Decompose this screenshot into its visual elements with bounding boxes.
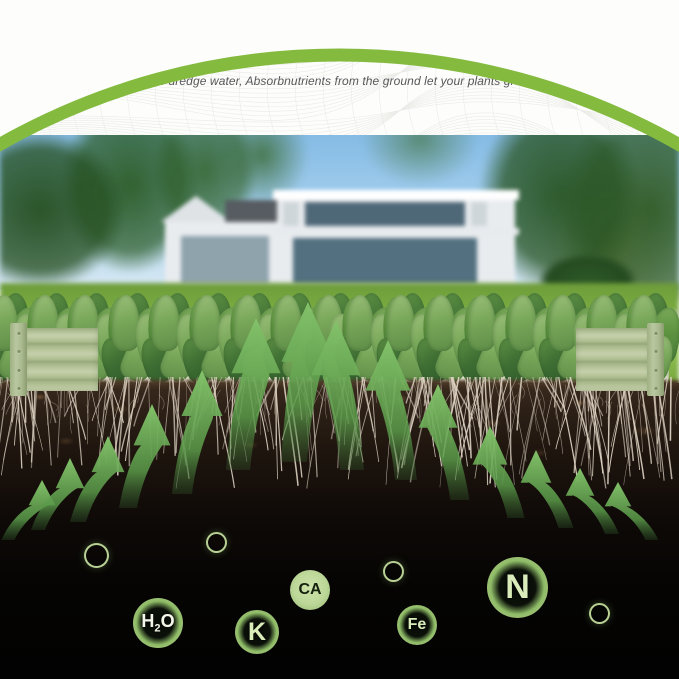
bed-rivet xyxy=(654,387,657,390)
bed-corner-post xyxy=(10,323,27,396)
bed-rivet xyxy=(17,332,20,335)
bed-rivet xyxy=(654,350,657,353)
bed-corrugated-wall xyxy=(576,328,650,391)
bed-rivet xyxy=(17,350,20,353)
garden-bed-panel-right xyxy=(576,328,664,391)
bed-rivet xyxy=(17,387,20,390)
bed-corrugated-wall xyxy=(24,328,98,391)
bed-rivet xyxy=(654,332,657,335)
bed-rivet xyxy=(17,369,20,372)
garden-bed-panel-left xyxy=(10,328,98,391)
garden-bed-panels xyxy=(0,0,679,679)
bed-rivet xyxy=(654,369,657,372)
bed-corner-post xyxy=(647,323,664,396)
promo-banner: Open Base Design Beneficial to dredge wa… xyxy=(0,0,679,679)
